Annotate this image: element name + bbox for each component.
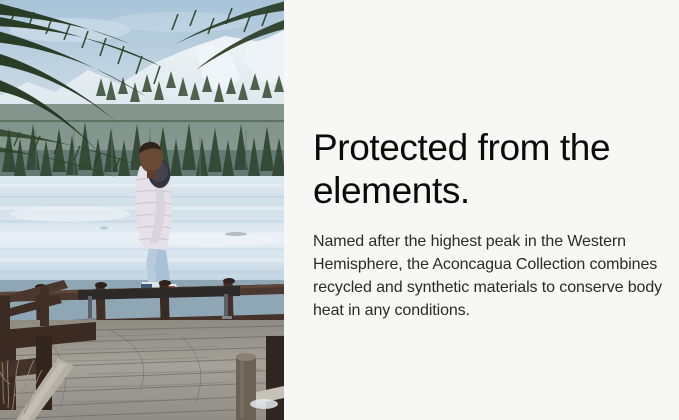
promo-banner: Protected from the elements. Named after…: [0, 0, 679, 420]
body-copy: Named after the highest peak in the West…: [313, 212, 665, 322]
page-title: Protected from the elements.: [313, 126, 665, 212]
text-block: Protected from the elements. Named after…: [313, 126, 665, 322]
text-panel: Protected from the elements. Named after…: [284, 0, 679, 420]
hero-photo: [0, 0, 284, 420]
winter-lake-scene-illustration: [0, 0, 284, 420]
